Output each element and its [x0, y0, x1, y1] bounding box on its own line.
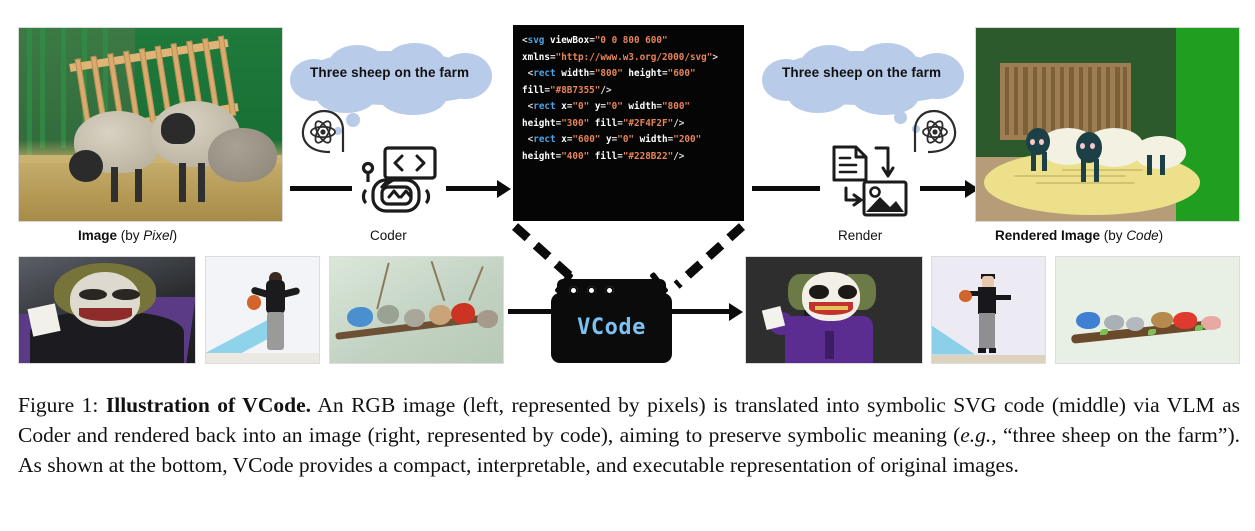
rendered-image-birds-svg — [1055, 256, 1240, 364]
rendered-image-sheep-svg — [975, 27, 1240, 222]
coder-robot-icon — [356, 142, 440, 220]
label-rendered-bold: Rendered Image — [995, 228, 1100, 243]
label-rendered-image-by-code: Rendered Image (by Code) — [995, 228, 1163, 243]
arrow-vcode-to-renders — [672, 309, 730, 314]
arrow-photos-to-vcode — [508, 309, 554, 314]
svg-code-panel[interactable]: <svg viewBox="0 0 800 600" xmlns="http:/… — [513, 25, 744, 221]
source-image-sheep-photo — [18, 27, 283, 222]
label-image-italic: Pixel — [143, 228, 172, 243]
caption-prefix: Figure 1: — [18, 393, 98, 417]
dashed-connector-right — [674, 223, 745, 289]
label-rendered-italic: Code — [1126, 228, 1158, 243]
caption-title: Illustration of VCode. — [106, 393, 311, 417]
render-sheep-leg — [1031, 152, 1036, 171]
render-document-to-image-icon — [826, 142, 914, 220]
head-atom-icon — [298, 108, 340, 148]
bird — [1151, 312, 1173, 328]
figure-illustration-of-vcode: Three sheep on the farm — [0, 0, 1255, 531]
render-sheep-leg — [1147, 155, 1152, 174]
sheep-leg — [179, 163, 186, 202]
bird — [347, 307, 373, 327]
arrow-coder-to-code — [446, 186, 498, 191]
bird — [1126, 317, 1144, 331]
sheep-body — [208, 128, 276, 182]
rendered-image-basketball-svg — [931, 256, 1046, 364]
arrow-render-to-image — [920, 186, 966, 191]
label-rendered-tail: ) — [1159, 228, 1164, 243]
sheep-leg — [198, 163, 205, 202]
figure-caption: Figure 1: Illustration of VCode. An RGB … — [18, 390, 1240, 480]
label-rendered-paren: (by — [1100, 228, 1126, 243]
gate-bar — [61, 28, 66, 148]
source-image-basketball-photo — [205, 256, 320, 364]
render-sheep-leg — [1094, 159, 1099, 182]
thought-dot — [346, 113, 360, 127]
label-render: Render — [838, 228, 882, 243]
label-image-bold: Image — [78, 228, 117, 243]
bird — [1104, 315, 1124, 330]
arrow-code-to-render — [752, 186, 820, 191]
label-coder: Coder — [370, 228, 407, 243]
thought-text-right: Three sheep on the farm — [782, 65, 941, 80]
caption-eg: e.g., — [960, 423, 996, 447]
label-image-by-pixel: Image (by Pixel) — [78, 228, 177, 243]
source-image-birds-photo — [329, 256, 504, 364]
bird — [1076, 312, 1100, 329]
bird — [1201, 316, 1221, 330]
bird — [1173, 312, 1197, 329]
vcode-logo: VCode — [551, 279, 672, 363]
svg-code-text: <svg viewBox="0 0 800 600" xmlns="http:/… — [522, 33, 735, 165]
source-image-joker-photo — [18, 256, 196, 364]
rendered-image-joker-svg — [745, 256, 923, 364]
gate-bar — [40, 28, 45, 148]
head-atom-icon — [912, 108, 954, 148]
render-sheep-leg — [1042, 152, 1047, 171]
thought-dot — [894, 111, 907, 124]
bird — [477, 310, 498, 328]
sheep-leg — [135, 169, 142, 202]
thought-text-left: Three sheep on the farm — [310, 65, 469, 80]
label-image-tail: ) — [173, 228, 178, 243]
bird — [451, 303, 475, 324]
render-sheep-leg — [1081, 159, 1086, 182]
sheep-head — [161, 113, 195, 144]
bird — [429, 305, 451, 325]
render-sheep-leg — [1160, 155, 1165, 174]
bird — [404, 309, 425, 327]
sheep-leg — [111, 167, 118, 202]
arrow-photo-to-coder — [290, 186, 352, 191]
bird — [377, 305, 399, 324]
logo-text: VCode — [551, 315, 672, 340]
label-image-paren: (by — [117, 228, 143, 243]
